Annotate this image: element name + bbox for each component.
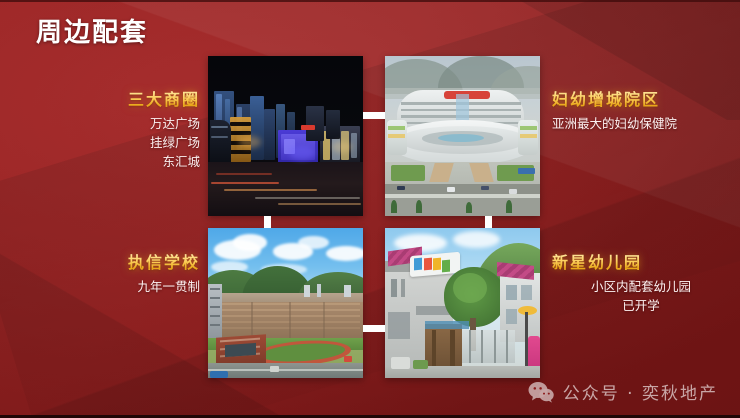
label-subline: 小区内配套幼儿园	[552, 278, 730, 297]
label-sublist-school: 九年一贯制	[92, 278, 200, 297]
label-block-hospital: 妇幼增城院区 亚洲最大的妇幼保健院	[552, 90, 730, 134]
label-heading-kindergarten: 新星幼儿园	[552, 253, 730, 273]
connector-right-vertical	[485, 216, 492, 228]
photo-scene-hospital	[385, 56, 540, 216]
connector-left-vertical	[264, 216, 271, 228]
label-subline: 东汇城	[92, 153, 200, 172]
photo-scene-school-aerial	[208, 228, 363, 378]
photo-school	[208, 228, 363, 378]
label-subline: 已开学	[552, 297, 730, 316]
label-sublist-hospital: 亚洲最大的妇幼保健院	[552, 115, 730, 134]
label-heading-commercial-district: 三大商圈	[92, 90, 200, 110]
presentation-slide: 周边配套	[0, 0, 740, 418]
photo-kindergarten	[385, 228, 540, 378]
label-subline: 九年一贯制	[92, 278, 200, 297]
wechat-icon	[528, 381, 554, 403]
label-heading-school: 执信学校	[92, 253, 200, 273]
connector-top-horizontal	[363, 112, 385, 119]
label-subline: 万达广场	[92, 115, 200, 134]
label-heading-hospital: 妇幼增城院区	[552, 90, 730, 110]
watermark: 公众号 · 奕秋地产	[528, 379, 718, 404]
label-block-kindergarten: 新星幼儿园 小区内配套幼儿园 已开学	[552, 253, 730, 316]
photo-scene-kindergarten	[385, 228, 540, 378]
connector-bottom-horizontal	[363, 325, 385, 332]
photo-scene-night-city	[208, 56, 363, 216]
page-title: 周边配套	[36, 12, 148, 49]
watermark-text: 公众号 · 奕秋地产	[563, 379, 718, 404]
photo-hospital	[385, 56, 540, 216]
label-sublist-commercial-district: 万达广场 挂绿广场 东汇城	[92, 115, 200, 171]
slide-top-edge	[0, 0, 740, 2]
label-block-school: 执信学校 九年一贯制	[92, 253, 200, 297]
label-block-commercial-district: 三大商圈 万达广场 挂绿广场 东汇城	[92, 90, 200, 171]
label-sublist-kindergarten: 小区内配套幼儿园 已开学	[552, 278, 730, 316]
label-subline: 挂绿广场	[92, 134, 200, 153]
label-subline: 亚洲最大的妇幼保健院	[552, 115, 730, 134]
photo-commercial-district	[208, 56, 363, 216]
background-vignette	[0, 0, 740, 418]
